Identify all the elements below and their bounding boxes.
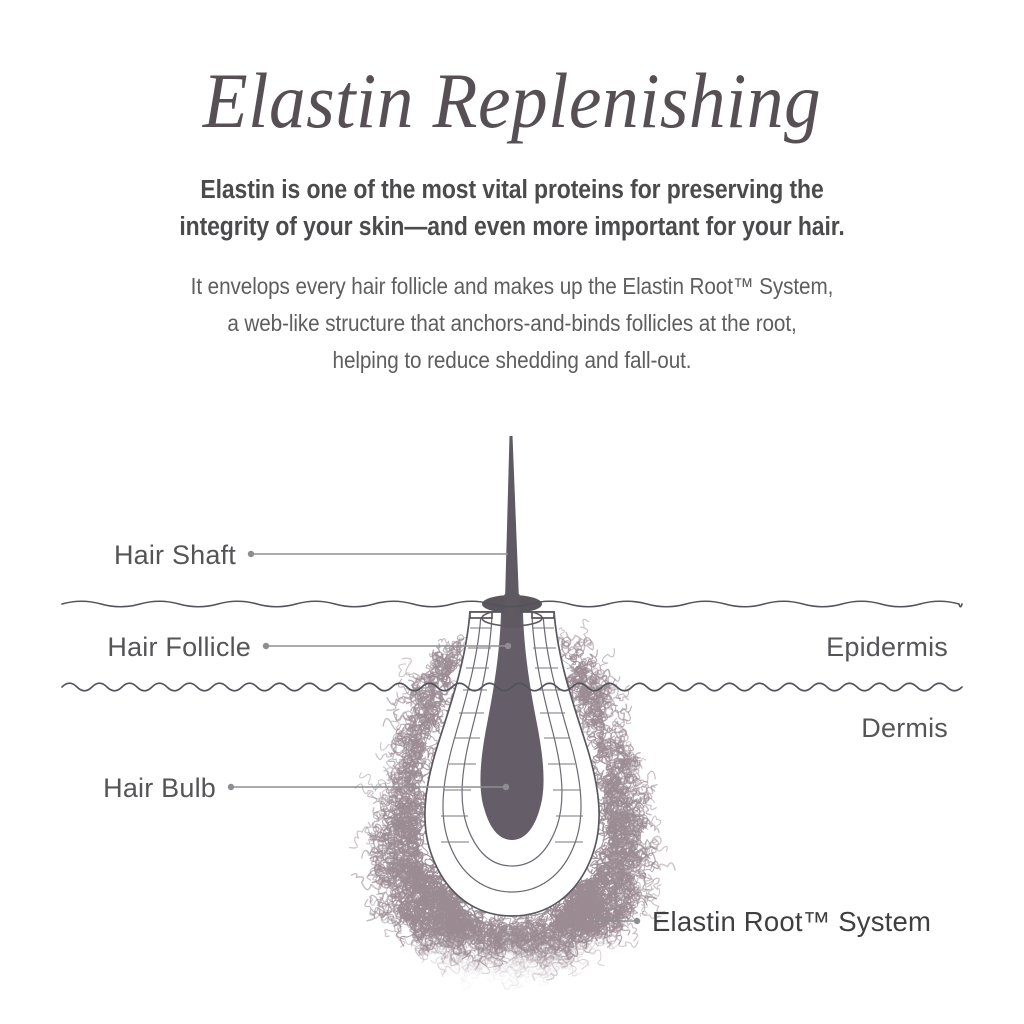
hair-follicle-diagram: Hair Shaft Hair Follicle Hair Bulb Epide… [0, 0, 1024, 1024]
label-dermis: Dermis [861, 713, 948, 743]
label-hair-shaft: Hair Shaft [114, 540, 236, 570]
label-epidermis: Epidermis [826, 632, 948, 662]
hair-shaft-at-opening [505, 594, 520, 628]
label-hair-bulb: Hair Bulb [103, 773, 216, 803]
hair-shaft [505, 436, 519, 600]
infographic-page: Elastin Replenishing Elastin is one of t… [0, 0, 1024, 1024]
label-hair-follicle: Hair Follicle [107, 632, 251, 662]
label-elastin-root-system: Elastin Root™ System [652, 906, 931, 937]
